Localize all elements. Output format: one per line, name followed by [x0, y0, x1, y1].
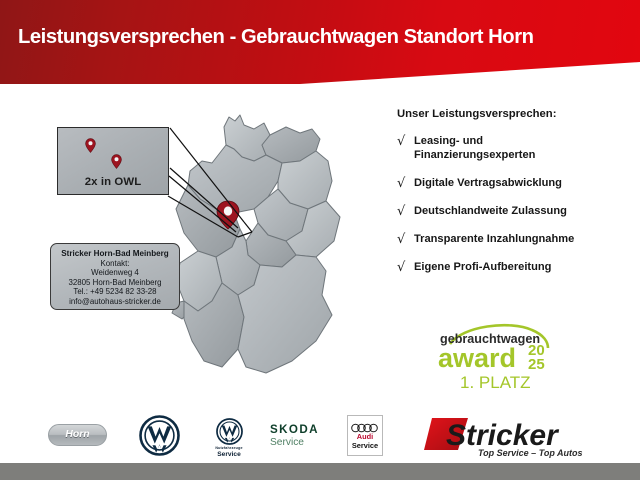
list-item: √ Digitale Vertragsabwicklung — [397, 177, 635, 191]
address-line: 32805 Horn-Bad Meinberg — [55, 278, 175, 288]
award-year-bottom: 25 — [528, 356, 545, 373]
list-item: √ Transparente Inzahlungnahme — [397, 233, 635, 247]
vw-service-label: Service — [203, 451, 255, 458]
list-item: √ Deutschlandweite Zulassung — [397, 205, 635, 219]
slide-root: Leistungsversprechen - Gebrauchtwagen St… — [0, 0, 640, 480]
horn-badge: Horn — [48, 424, 107, 446]
audi-service-logo: Audi Service — [347, 415, 383, 456]
vw-nutzfahrzeuge-logo-icon: Nutzfahrzeuge Service — [203, 418, 255, 458]
check-mark-icon: √ — [397, 177, 414, 191]
promise-list-title: Unser Leistungsversprechen: — [397, 108, 635, 120]
address-line: Kontakt: — [55, 259, 175, 269]
list-item: √ Eigene Profi-Aufbereitung — [397, 261, 635, 275]
owl-inset-box: 2x in OWL — [57, 127, 169, 195]
address-callout: Stricker Horn-Bad Meinberg Kontakt: Weid… — [50, 243, 180, 310]
check-mark-icon: √ — [397, 135, 414, 149]
award-badge: gebrauchtwagen award 20 25 1. PLATZ — [432, 322, 560, 392]
vw-nutzfahrzeuge-label: Nutzfahrzeuge — [203, 446, 255, 450]
map-pin-icon — [85, 138, 96, 153]
promise-item-label: Deutschlandweite Zulassung — [414, 205, 567, 219]
address-line: Stricker Horn-Bad Meinberg — [55, 249, 175, 259]
audi-service-label: Service — [348, 442, 382, 451]
promise-item-label: Leasing- und Finanzierungsexperten — [414, 135, 535, 162]
stricker-logo: Stricker Top Service – Top Autos — [424, 414, 604, 460]
promise-item-label: Digitale Vertragsabwicklung — [414, 177, 562, 191]
promise-list: Unser Leistungsversprechen: √ Leasing- u… — [397, 108, 635, 289]
address-line: Weidenweg 4 — [55, 268, 175, 278]
germany-map — [150, 105, 380, 400]
check-mark-icon: √ — [397, 205, 414, 219]
footer-bar — [0, 463, 640, 480]
skoda-wordmark: SKODA — [270, 424, 332, 436]
vw-roundel-icon — [216, 418, 243, 445]
promise-item-label: Eigene Profi-Aufbereitung — [414, 261, 551, 275]
address-phone: Tel.: +49 5234 82 33-28 — [55, 287, 175, 297]
stricker-slogan: Top Service – Top Autos — [478, 448, 583, 458]
map-pin-icon — [111, 154, 122, 169]
horn-badge-label: Horn — [49, 425, 106, 445]
address-email: info@autohaus-stricker.de — [55, 297, 175, 307]
page-title: Leistungsversprechen - Gebrauchtwagen St… — [18, 26, 628, 49]
promise-item-label: Transparente Inzahlungnahme — [414, 233, 574, 247]
skoda-service-label: Service — [270, 437, 332, 448]
skoda-service-logo: SKODA Service — [270, 424, 332, 448]
audi-rings-icon — [351, 420, 379, 430]
award-rank: 1. PLATZ — [460, 373, 531, 392]
owl-inset-label: 2x in OWL — [58, 176, 168, 188]
check-mark-icon: √ — [397, 233, 414, 247]
vw-logo-icon — [139, 415, 180, 456]
list-item: √ Leasing- und Finanzierungsexperten — [397, 135, 635, 162]
award-line2: award — [438, 343, 516, 373]
check-mark-icon: √ — [397, 261, 414, 275]
